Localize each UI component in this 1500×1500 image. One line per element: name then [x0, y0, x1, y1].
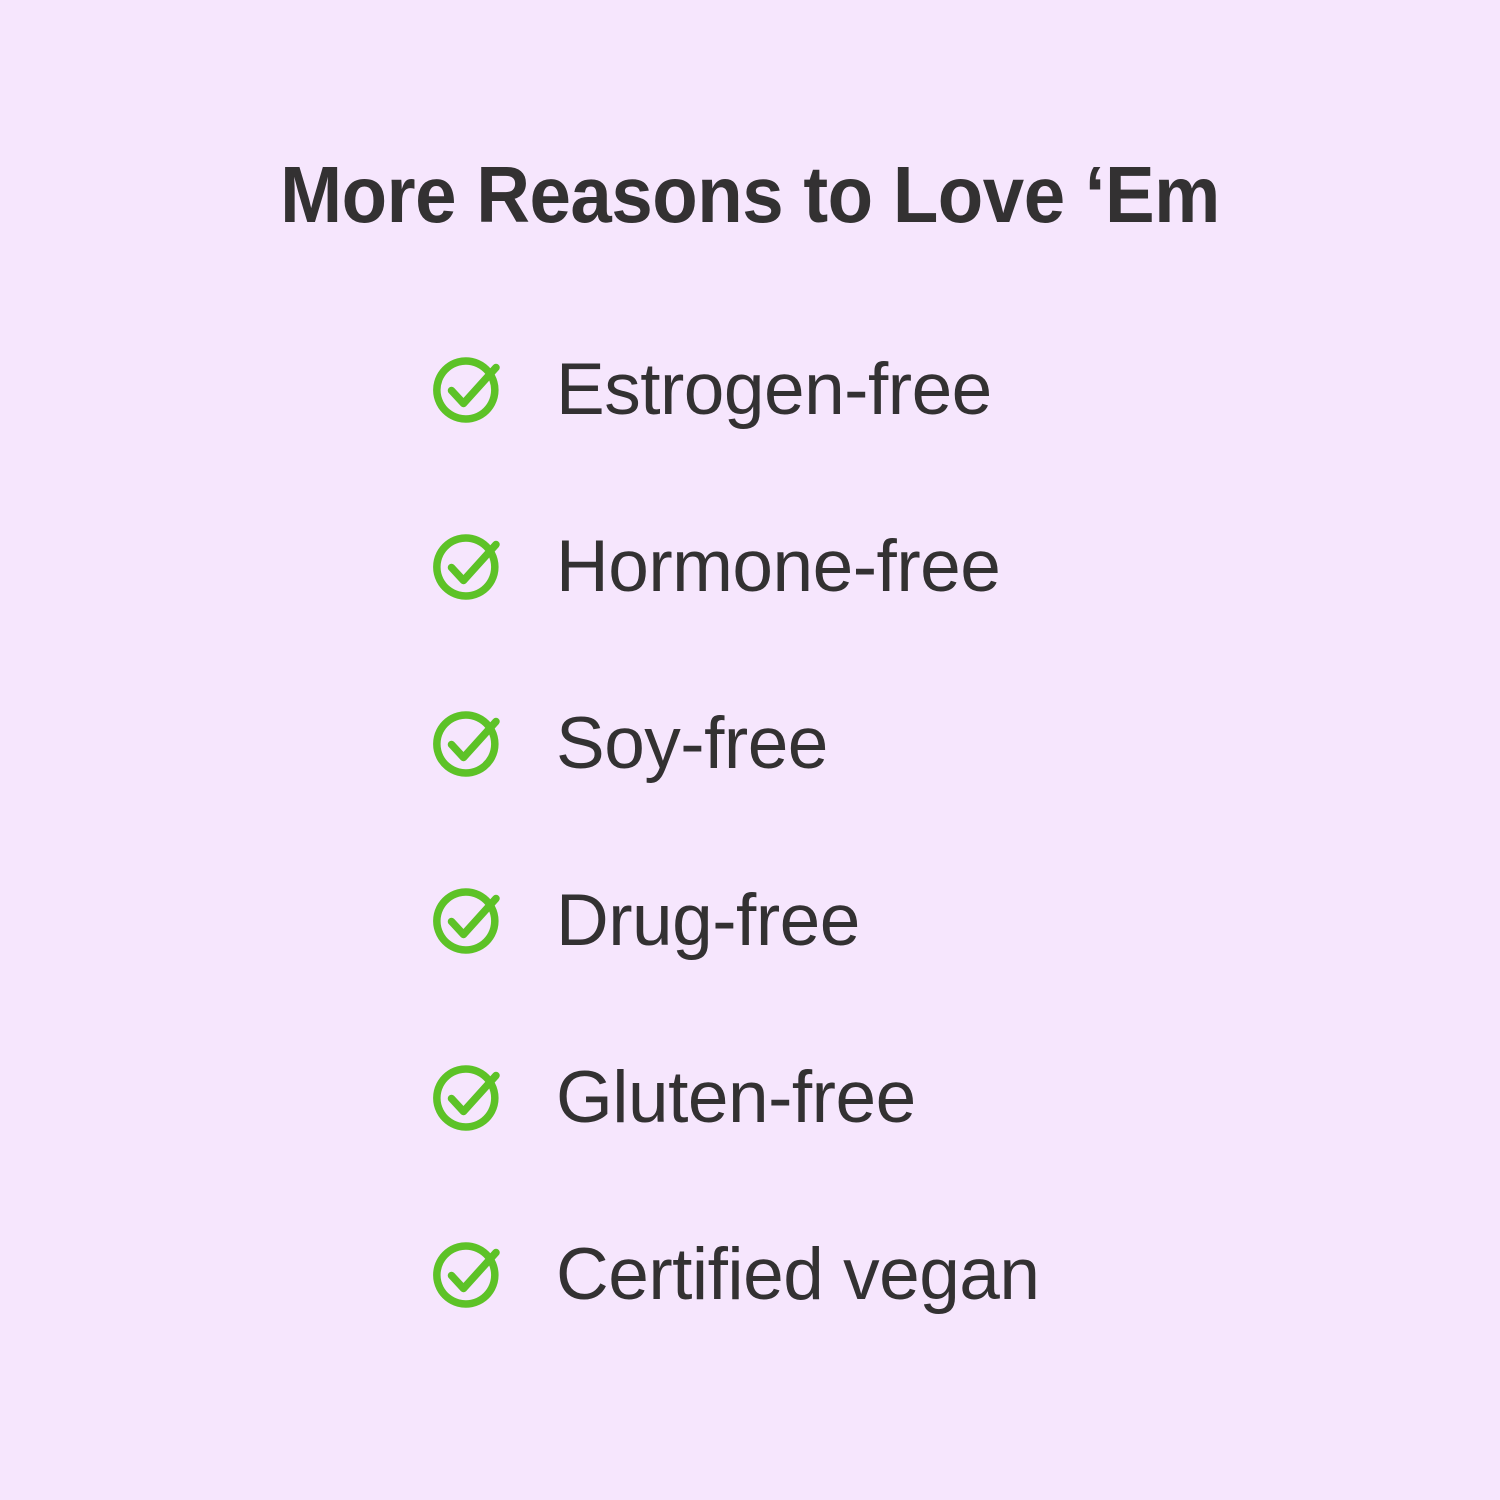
check-circle-icon [430, 1237, 506, 1313]
page-title: More Reasons to Love ‘Em [53, 150, 1448, 240]
list-item: Gluten-free [430, 1056, 1470, 1140]
list-item-label: Drug-free [556, 882, 860, 960]
list-item: Hormone-free [430, 525, 1470, 609]
list-item-label: Gluten-free [556, 1059, 916, 1137]
check-circle-icon [430, 529, 506, 605]
check-circle-icon [430, 1060, 506, 1136]
promo-graphic: More Reasons to Love ‘Em Estrogen-free H… [0, 0, 1500, 1500]
list-item: Soy-free [430, 702, 1470, 786]
list-item: Drug-free [430, 879, 1470, 963]
check-circle-icon [430, 352, 506, 428]
list-item-label: Soy-free [556, 705, 828, 783]
list-item-label: Certified vegan [556, 1236, 1040, 1314]
benefits-list: Estrogen-free Hormone-free Soy-free [430, 348, 1470, 1317]
list-item: Estrogen-free [430, 348, 1470, 432]
list-item: Certified vegan [430, 1233, 1470, 1317]
list-item-label: Estrogen-free [556, 351, 992, 429]
check-circle-icon [430, 706, 506, 782]
check-circle-icon [430, 883, 506, 959]
list-item-label: Hormone-free [556, 528, 1000, 606]
